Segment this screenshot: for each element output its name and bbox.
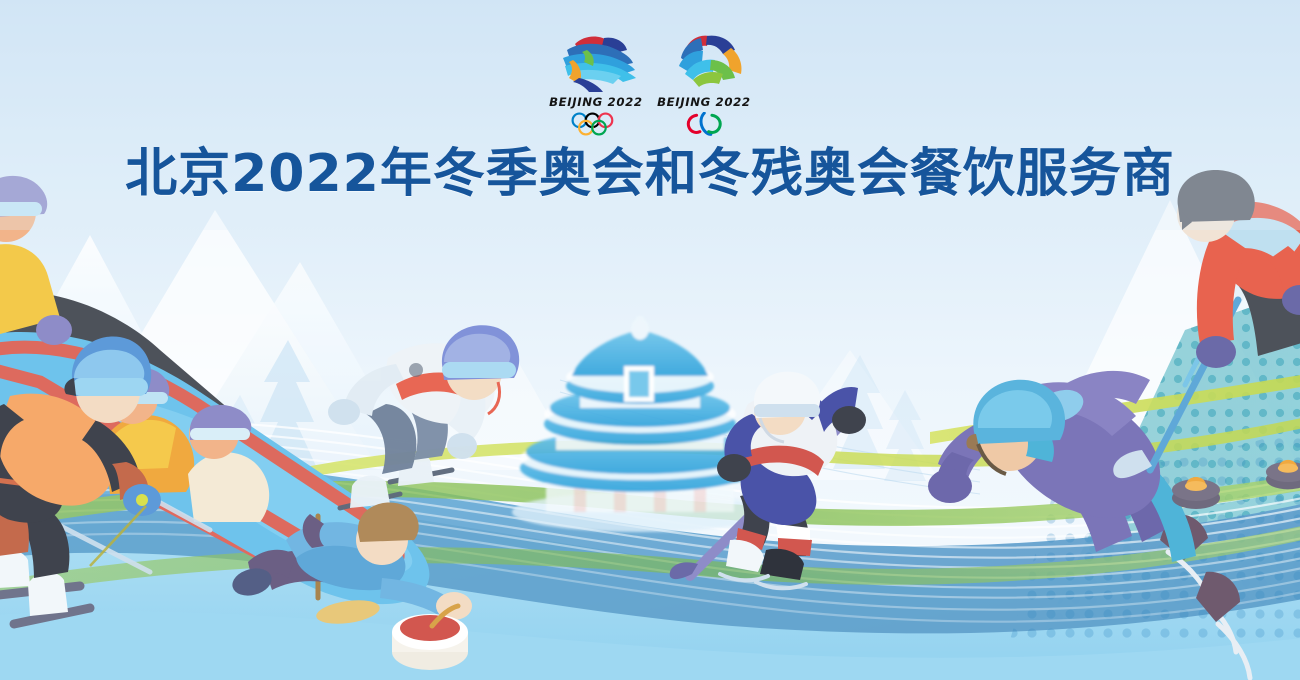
olympic-rings-icon [570,112,622,136]
flying-high-ribbon-icon [661,32,747,94]
paralympic-wordmark: BEIJING 2022 [657,95,751,109]
olympic-banner: BEIJING 2022 [0,0,1300,680]
beijing-2022-paralympic-emblem: BEIJING 2022 [654,32,754,136]
olympic-wordmark: BEIJING 2022 [549,95,643,109]
emblem-row: BEIJING 2022 [0,32,1300,136]
winter-dream-ribbon-icon [553,32,639,94]
page-title: 北京2022年冬季奥会和冬残奥会餐饮服务商 [0,143,1300,205]
paralympic-agitos-icon [677,112,732,136]
beijing-2022-olympic-emblem: BEIJING 2022 [546,32,646,136]
